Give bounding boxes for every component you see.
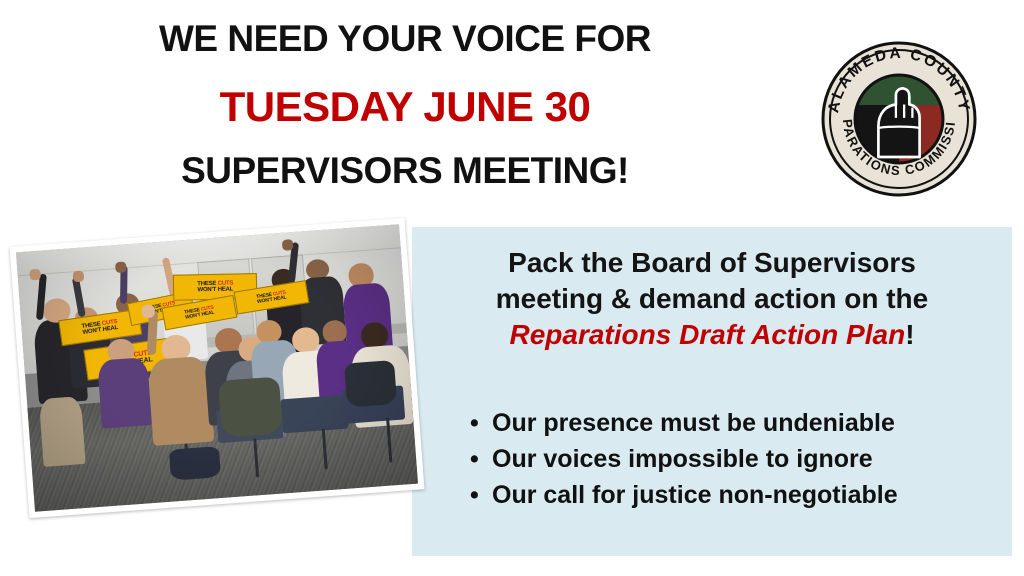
- photo-chair: [281, 395, 349, 433]
- photo-person: [97, 357, 152, 428]
- poster-header: WE NEED YOUR VOICE FOR TUESDAY JUNE 30 S…: [0, 0, 810, 215]
- photo-bag-on-floor: [169, 446, 221, 481]
- meeting-photo: THESE CUTS WON'T HEAL THESE CUTS WON'T H…: [10, 218, 425, 518]
- list-item: Our call for justice non-negotiable: [468, 477, 996, 513]
- headline-line-3: SUPERVISORS MEETING!: [0, 152, 810, 189]
- demand-bullet-list: Our presence must be undeniable Our voic…: [468, 405, 996, 513]
- panel-heading-line-2: meeting & demand action on the: [496, 283, 928, 314]
- photo-person: [282, 239, 294, 251]
- list-item: Our presence must be undeniable: [468, 405, 996, 441]
- photo-person: [147, 356, 215, 446]
- poster-canvas: WE NEED YOUR VOICE FOR TUESDAY JUNE 30 S…: [0, 0, 1024, 576]
- headline-date: TUESDAY JUNE 30: [0, 86, 810, 128]
- photo-backpack: [218, 376, 283, 438]
- photo-person: [38, 396, 85, 467]
- reparations-commission-logo: ALAMEDA COUNTY REPARATIONS COMMISSION: [816, 36, 982, 202]
- panel-heading: Pack the Board of Supervisors meeting & …: [440, 245, 984, 352]
- panel-heading-line-1: Pack the Board of Supervisors: [508, 247, 916, 278]
- photo-handbag: [344, 360, 397, 408]
- call-to-action-panel: Pack the Board of Supervisors meeting & …: [412, 227, 1012, 556]
- photo-person: [115, 261, 127, 273]
- photo-person: [141, 305, 155, 319]
- panel-heading-exclamation: !: [905, 319, 914, 350]
- panel-heading-emphasis: Reparations Draft Action Plan: [509, 319, 905, 350]
- meeting-photo-image: THESE CUTS WON'T HEAL THESE CUTS WON'T H…: [16, 224, 418, 511]
- headline-line-1: WE NEED YOUR VOICE FOR: [0, 20, 810, 57]
- list-item: Our voices impossible to ignore: [468, 441, 996, 477]
